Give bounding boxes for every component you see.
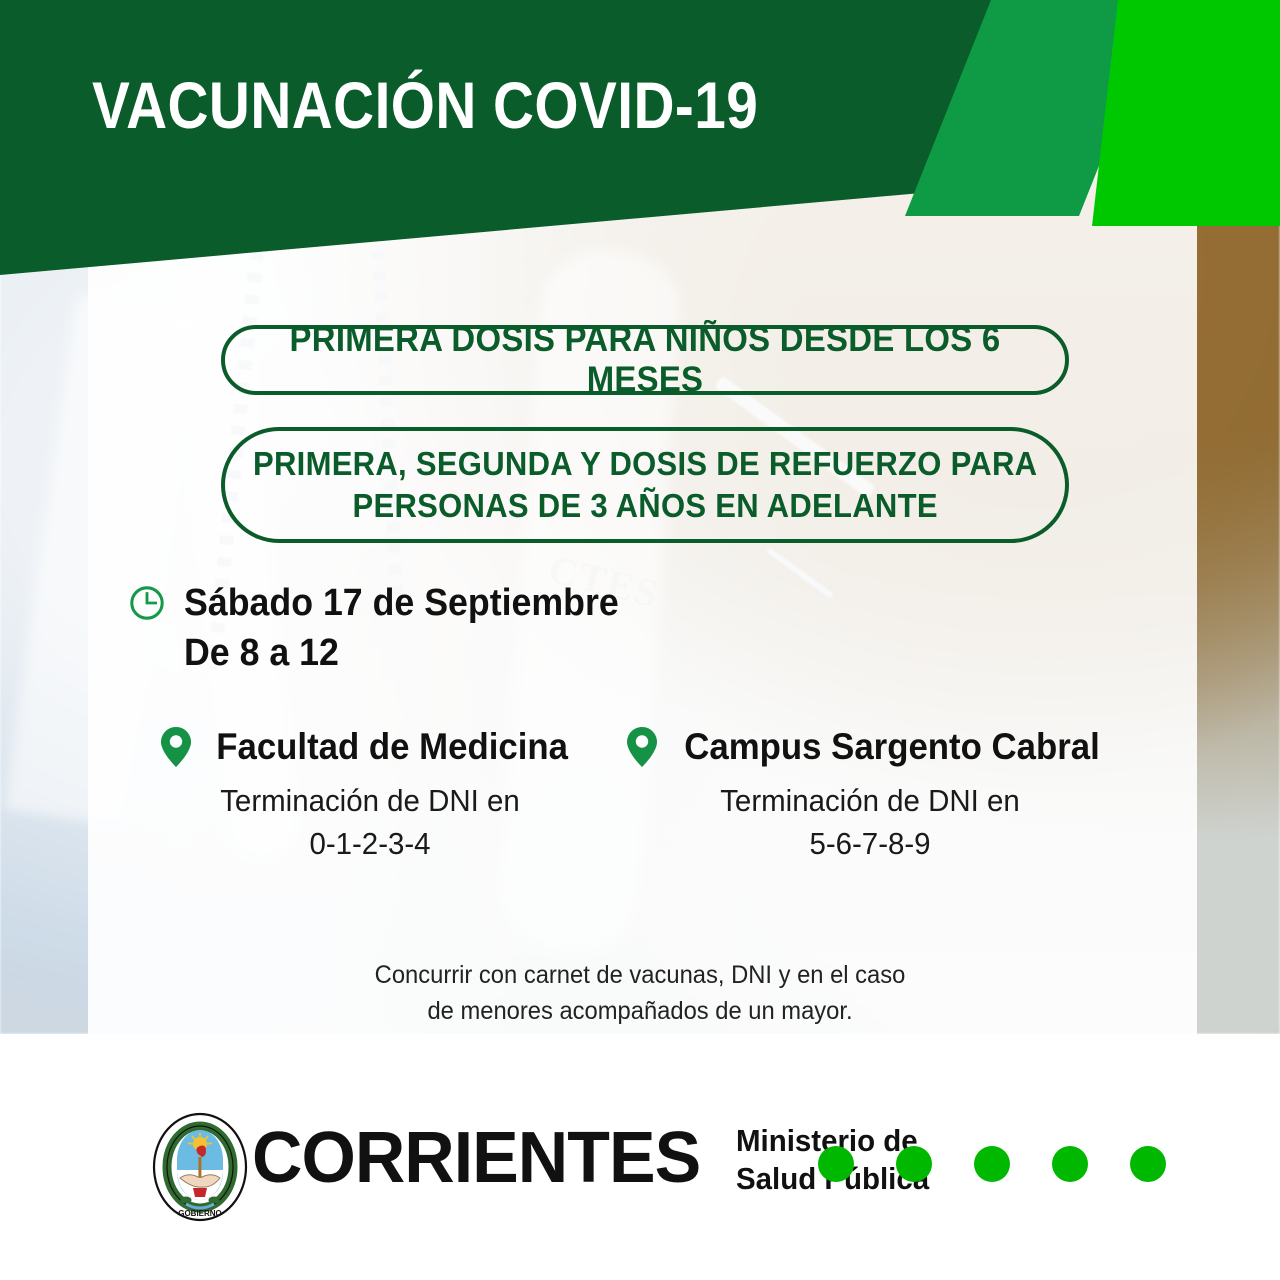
map-pin-icon [161, 727, 191, 767]
location-dni-label: Terminación de DNI en [633, 780, 1108, 823]
corrientes-coat-of-arms-icon: GOBIERNO [152, 1112, 248, 1222]
requirements-note-line-1: Concurrir con carnet de vacunas, DNI y e… [308, 958, 973, 994]
requirements-note: Concurrir con carnet de vacunas, DNI y e… [290, 958, 990, 1029]
badge-first-dose-children: PRIMERA DOSIS PARA NIÑOS DESDE LOS 6 MES… [221, 325, 1069, 395]
location-dni-info: Terminación de DNI en 0-1-2-3-4 [120, 780, 620, 866]
schedule-block: Sábado 17 de Septiembre De 8 a 12 [128, 578, 647, 678]
location-name: Campus Sargento Cabral [684, 726, 1100, 768]
decorative-dot [1130, 1146, 1166, 1182]
location-facultad-de-medicina: Facultad de Medicina Terminación de DNI … [120, 726, 620, 866]
schedule-text: Sábado 17 de Septiembre De 8 a 12 [184, 578, 647, 678]
location-dni-digits: 5-6-7-8-9 [633, 823, 1108, 866]
location-header: Campus Sargento Cabral [620, 726, 1120, 768]
locations-block: Facultad de Medicina Terminación de DNI … [120, 726, 1120, 866]
badge-first-dose-children-text: PRIMERA DOSIS PARA NIÑOS DESDE LOS 6 MES… [250, 320, 1040, 400]
location-campus-sargento-cabral: Campus Sargento Cabral Terminación de DN… [620, 726, 1120, 866]
decorative-dot [896, 1146, 932, 1182]
decorative-dots [818, 1146, 1166, 1182]
brand-name: CORRIENTES [252, 1122, 700, 1194]
location-name: Facultad de Medicina [216, 726, 568, 768]
page-title: VACUNACIÓN COVID-19 [92, 72, 832, 138]
poster: CTES VACUNACIÓN COVID-19 PRIMERA DOSIS P… [0, 0, 1280, 1280]
location-header: Facultad de Medicina [120, 726, 620, 768]
schedule-date: Sábado 17 de Septiembre [184, 578, 619, 628]
requirements-note-line-2: de menores acompañados de un mayor. [308, 994, 973, 1030]
badge-doses-from-three-years: PRIMERA, SEGUNDA Y DOSIS DE REFUERZO PAR… [221, 427, 1069, 543]
location-dni-digits: 0-1-2-3-4 [133, 823, 608, 866]
map-pin-icon [627, 727, 657, 767]
decorative-dot [1052, 1146, 1088, 1182]
schedule-hours: De 8 a 12 [184, 628, 619, 678]
location-dni-label: Terminación de DNI en [133, 780, 608, 823]
badge-doses-line-1: PRIMERA, SEGUNDA Y DOSIS DE REFUERZO PAR… [253, 443, 1037, 485]
decorative-dot [974, 1146, 1010, 1182]
location-dni-info: Terminación de DNI en 5-6-7-8-9 [620, 780, 1120, 866]
clock-icon [128, 584, 166, 622]
decorative-dot [818, 1146, 854, 1182]
crest-motto-text: GOBIERNO [178, 1209, 222, 1218]
badge-doses-line-2: PERSONAS DE 3 AÑOS EN ADELANTE [253, 485, 1037, 527]
